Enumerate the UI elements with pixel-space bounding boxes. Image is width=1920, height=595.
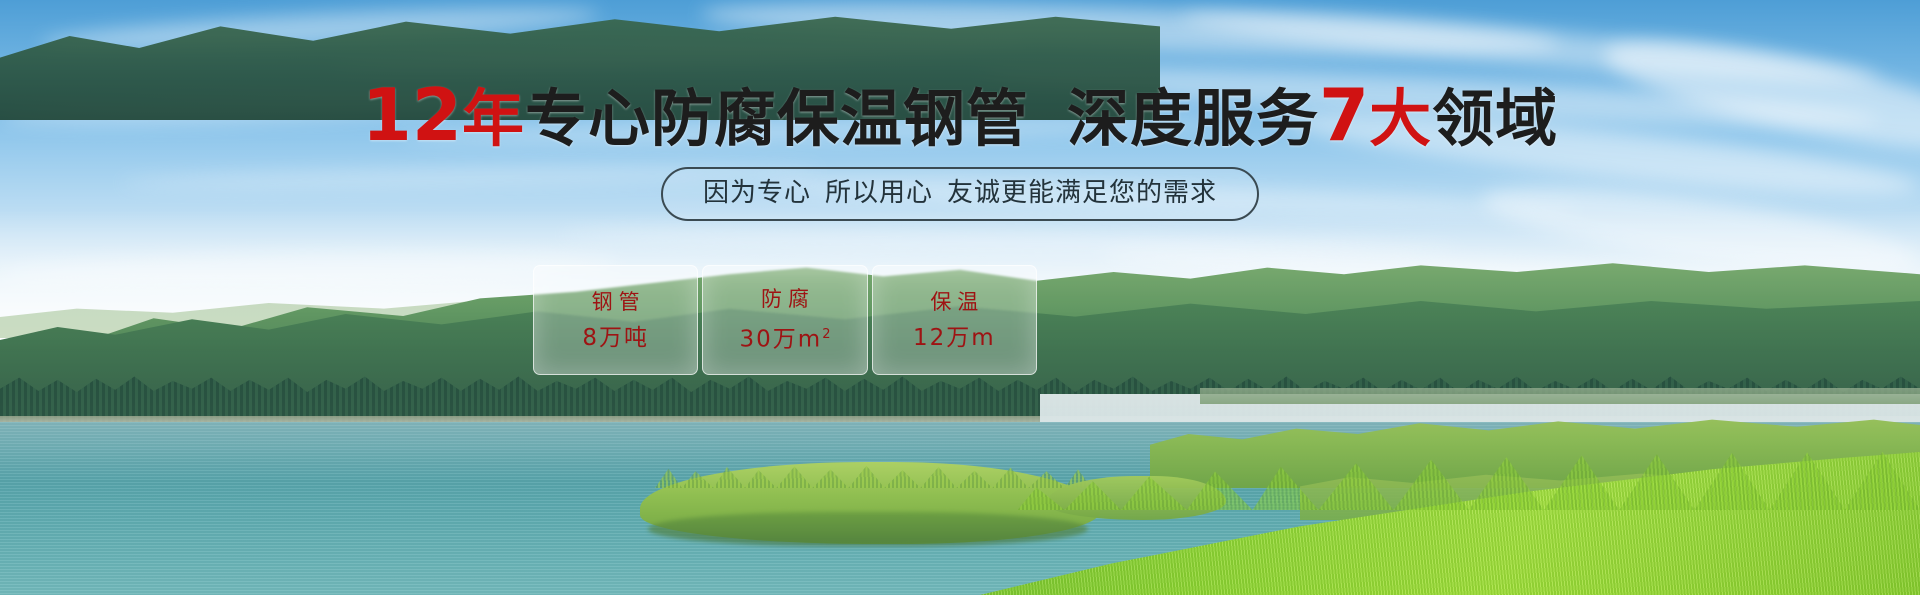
headline-segment-2: 深度服务 — [1067, 82, 1319, 155]
subtitle-part-2: 所以用心 — [825, 178, 933, 208]
subtitle-pill: 因为专心所以用心友诚更能满足您的需求 — [661, 167, 1259, 221]
stat-card-value-base: 30万m — [740, 327, 823, 353]
stat-cards: 钢管 8万吨 防腐 30万m2 保温 12万m — [533, 265, 1037, 375]
headline: 12年专心防腐保温钢管深度服务7大领域 — [0, 82, 1920, 152]
headline-segment-1: 专心防腐保温钢管 — [525, 82, 1029, 155]
promo-banner: 12年专心防腐保温钢管深度服务7大领域 因为专心所以用心友诚更能满足您的需求 钢… — [0, 0, 1920, 595]
stat-card-value: 30万m2 — [740, 321, 831, 354]
stat-card-label: 钢管 — [586, 289, 646, 315]
headline-years-unit: 年 — [462, 82, 525, 155]
headline-years-number: 12 — [362, 73, 462, 157]
stat-card-value-exponent: 2 — [822, 327, 830, 342]
headline-fields-number: 7 — [1319, 73, 1369, 157]
stat-card-steel-pipe[interactable]: 钢管 8万吨 — [533, 265, 698, 375]
stat-card-anticorrosion[interactable]: 防腐 30万m2 — [702, 265, 867, 375]
subtitle-container: 因为专心所以用心友诚更能满足您的需求 — [0, 167, 1920, 221]
banner-content: 12年专心防腐保温钢管深度服务7大领域 因为专心所以用心友诚更能满足您的需求 钢… — [0, 0, 1920, 595]
stat-card-value: 12万m — [913, 324, 996, 352]
subtitle-part-3: 友诚更能满足您的需求 — [947, 178, 1217, 208]
stat-card-label: 防腐 — [755, 286, 815, 312]
stat-card-value-base: 8万吨 — [582, 325, 649, 351]
stat-card-insulation[interactable]: 保温 12万m — [872, 265, 1037, 375]
stat-card-label: 保温 — [924, 289, 984, 315]
headline-fields-unit: 大 — [1369, 82, 1432, 155]
headline-segment-3: 领域 — [1432, 82, 1558, 155]
stat-card-value: 8万吨 — [582, 324, 649, 352]
subtitle-part-1: 因为专心 — [703, 178, 811, 208]
stat-card-value-base: 12万m — [913, 325, 996, 351]
